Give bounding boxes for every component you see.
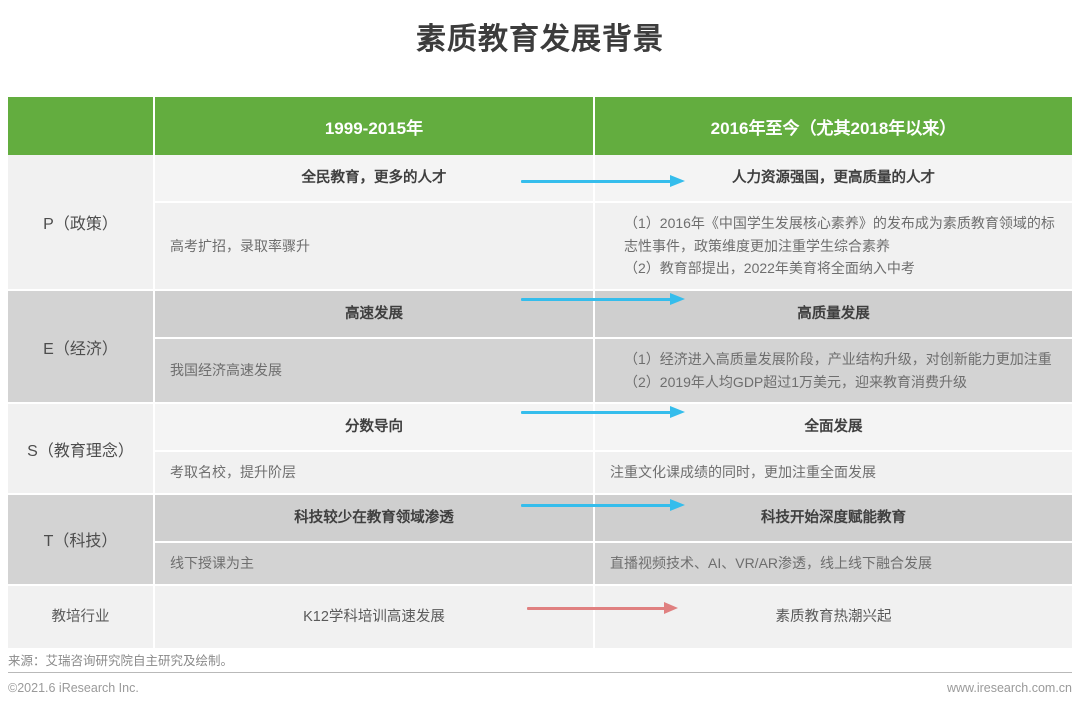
row-label-policy: P（政策）	[8, 155, 155, 291]
cell-technology-right-body: 直播视频技术、AI、VR/AR渗透，线上线下融合发展	[595, 543, 1072, 586]
policy-right-line-1: （1）2016年《中国学生发展核心素养》的发布成为素质教育领域的标志性事件，政策…	[610, 212, 1057, 257]
cell-economy-right-head: 高质量发展	[595, 291, 1072, 339]
policy-left-line-1: 高考扩招，录取率骤升	[156, 227, 592, 266]
footer-website: www.iresearch.com.cn	[947, 681, 1072, 695]
row-label-economy: E（经济）	[8, 291, 155, 404]
table-header-row: 1999-2015年 2016年至今（尤其2018年以来）	[8, 97, 1072, 155]
society-left-line-1: 考取名校，提升阶层	[156, 453, 592, 492]
cell-policy-right-body: （1）2016年《中国学生发展核心素养》的发布成为素质教育领域的标志性事件，政策…	[595, 203, 1072, 291]
technology-right-line-1: 直播视频技术、AI、VR/AR渗透，线上线下融合发展	[596, 544, 1071, 583]
table-row-policy-body: 高考扩招，录取率骤升 （1）2016年《中国学生发展核心素养》的发布成为素质教育…	[8, 203, 1072, 291]
cell-policy-left-body: 高考扩招，录取率骤升	[155, 203, 595, 291]
header-cell-period-1: 1999-2015年	[155, 97, 595, 155]
economy-left-line-1: 我国经济高速发展	[156, 351, 592, 390]
society-right-line-1: 注重文化课成绩的同时，更加注重全面发展	[596, 453, 1071, 492]
policy-right-line-2: （2）教育部提出，2022年美育将全面纳入中考	[610, 257, 1057, 280]
cell-economy-left-body: 我国经济高速发展	[155, 339, 595, 404]
table-row-society-head: S（教育理念） 分数导向 全面发展	[8, 404, 1072, 452]
economy-right-line-2: （2）2019年人均GDP超过1万美元，迎来教育消费升级	[610, 371, 1057, 394]
cell-society-left-body: 考取名校，提升阶层	[155, 452, 595, 495]
cell-technology-left-head: 科技较少在教育领域渗透	[155, 495, 595, 543]
cell-policy-right-head: 人力资源强国，更高质量的人才	[595, 155, 1072, 203]
row-label-society: S（教育理念）	[8, 404, 155, 495]
table-row-economy-body: 我国经济高速发展 （1）经济进入高质量发展阶段，产业结构升级，对创新能力更加注重…	[8, 339, 1072, 404]
economy-right-line-1: （1）经济进入高质量发展阶段，产业结构升级，对创新能力更加注重	[610, 348, 1057, 371]
cell-society-left-head: 分数导向	[155, 404, 595, 452]
cell-policy-left-head: 全民教育，更多的人才	[155, 155, 595, 203]
cell-training-left: K12学科培训高速发展	[155, 586, 595, 650]
header-cell-label	[8, 97, 155, 155]
cell-economy-left-head: 高速发展	[155, 291, 595, 339]
row-label-training-industry: 教培行业	[8, 586, 155, 650]
table-row-training-industry: 教培行业 K12学科培训高速发展 素质教育热潮兴起	[8, 586, 1072, 650]
cell-technology-right-head: 科技开始深度赋能教育	[595, 495, 1072, 543]
table-row-technology-head: T（科技） 科技较少在教育领域渗透 科技开始深度赋能教育	[8, 495, 1072, 543]
row-label-technology: T（科技）	[8, 495, 155, 586]
footer-divider	[8, 672, 1072, 673]
technology-left-line-1: 线下授课为主	[156, 544, 592, 583]
cell-training-right: 素质教育热潮兴起	[595, 586, 1072, 650]
source-note: 来源：艾瑞咨询研究院自主研究及绘制。	[8, 650, 233, 669]
header-cell-period-2: 2016年至今（尤其2018年以来）	[595, 97, 1072, 155]
footer-copyright: ©2021.6 iResearch Inc.	[8, 681, 139, 695]
table-row-policy-head: P（政策） 全民教育，更多的人才 人力资源强国，更高质量的人才	[8, 155, 1072, 203]
cell-technology-left-body: 线下授课为主	[155, 543, 595, 586]
pest-matrix-table: 1999-2015年 2016年至今（尤其2018年以来） P（政策） 全民教育…	[8, 97, 1072, 650]
page-title: 素质教育发展背景	[0, 0, 1080, 62]
cell-economy-right-body: （1）经济进入高质量发展阶段，产业结构升级，对创新能力更加注重 （2）2019年…	[595, 339, 1072, 404]
cell-society-right-head: 全面发展	[595, 404, 1072, 452]
cell-society-right-body: 注重文化课成绩的同时，更加注重全面发展	[595, 452, 1072, 495]
table-row-society-body: 考取名校，提升阶层 注重文化课成绩的同时，更加注重全面发展	[8, 452, 1072, 495]
table-row-technology-body: 线下授课为主 直播视频技术、AI、VR/AR渗透，线上线下融合发展	[8, 543, 1072, 586]
table-row-economy-head: E（经济） 高速发展 高质量发展	[8, 291, 1072, 339]
